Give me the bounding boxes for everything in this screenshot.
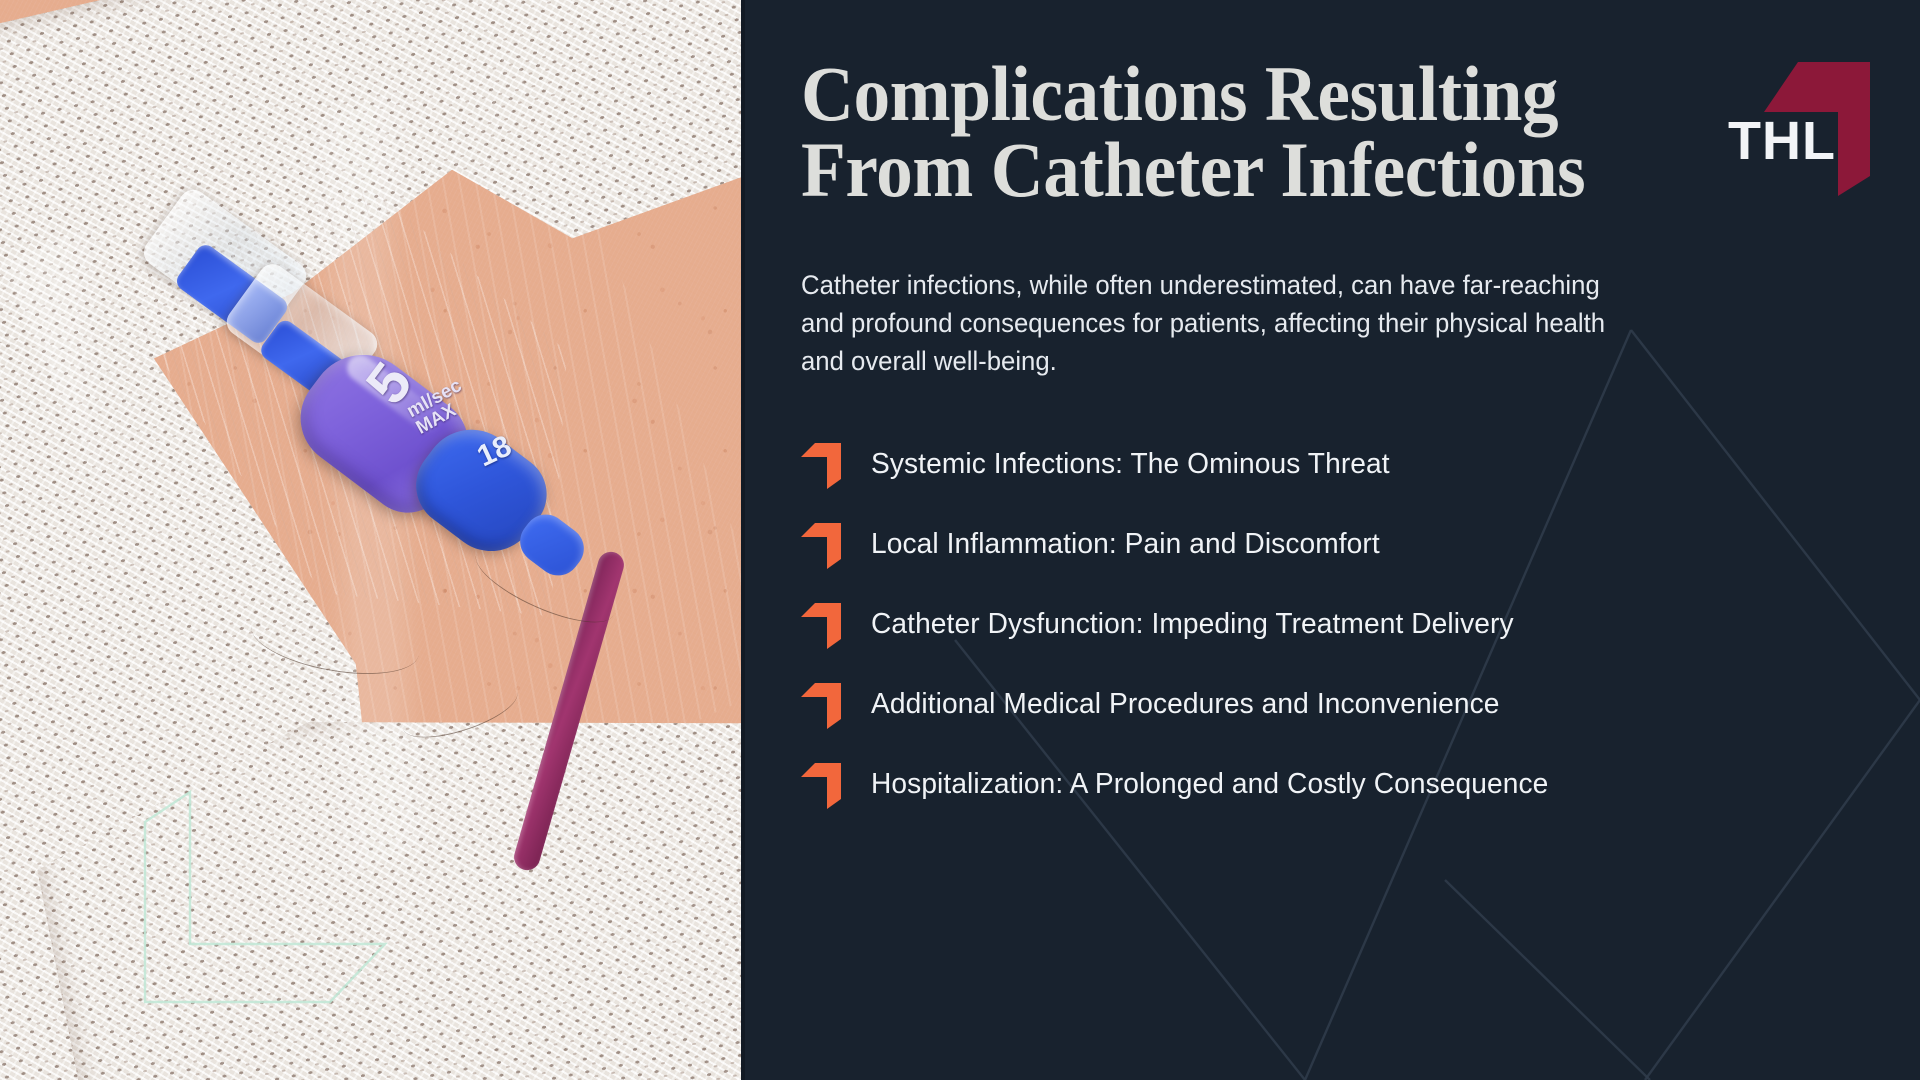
thl-logo-text: THL xyxy=(1728,114,1836,168)
list-item-label: Additional Medical Procedures and Inconv… xyxy=(871,687,1500,722)
page-title: Complications Resulting From Catheter In… xyxy=(801,0,1647,209)
chevron-arrow-marker-icon xyxy=(801,761,843,809)
thl-logo: THL xyxy=(1720,36,1884,196)
chevron-arrow-marker-icon xyxy=(801,521,843,569)
list-item[interactable]: Systemic Infections: The Ominous Threat xyxy=(801,441,1860,489)
chevron-arrow-marker-icon xyxy=(801,441,843,489)
list-item-label: Catheter Dysfunction: Impeding Treatment… xyxy=(871,607,1514,642)
slide-root: 5 ml/sec MAX 18 xyxy=(0,0,1920,1080)
chevron-arrow-marker-icon xyxy=(801,601,843,649)
complications-list: Systemic Infections: The Ominous Threat … xyxy=(801,381,1860,809)
list-item[interactable]: Additional Medical Procedures and Inconv… xyxy=(801,681,1860,729)
catheter-photo: 5 ml/sec MAX 18 xyxy=(0,0,745,1080)
intro-paragraph: Catheter infections, while often underes… xyxy=(801,209,1606,381)
chevron-arrow-marker-icon xyxy=(801,681,843,729)
list-item[interactable]: Catheter Dysfunction: Impeding Treatment… xyxy=(801,601,1860,649)
list-item[interactable]: Hospitalization: A Prolonged and Costly … xyxy=(801,761,1860,809)
list-item-label: Local Inflammation: Pain and Discomfort xyxy=(871,527,1380,562)
list-item-label: Hospitalization: A Prolonged and Costly … xyxy=(871,767,1548,802)
list-item[interactable]: Local Inflammation: Pain and Discomfort xyxy=(801,521,1860,569)
content-panel: THL Complications Resulting From Cathete… xyxy=(745,0,1920,1080)
list-item-label: Systemic Infections: The Ominous Threat xyxy=(871,447,1390,482)
